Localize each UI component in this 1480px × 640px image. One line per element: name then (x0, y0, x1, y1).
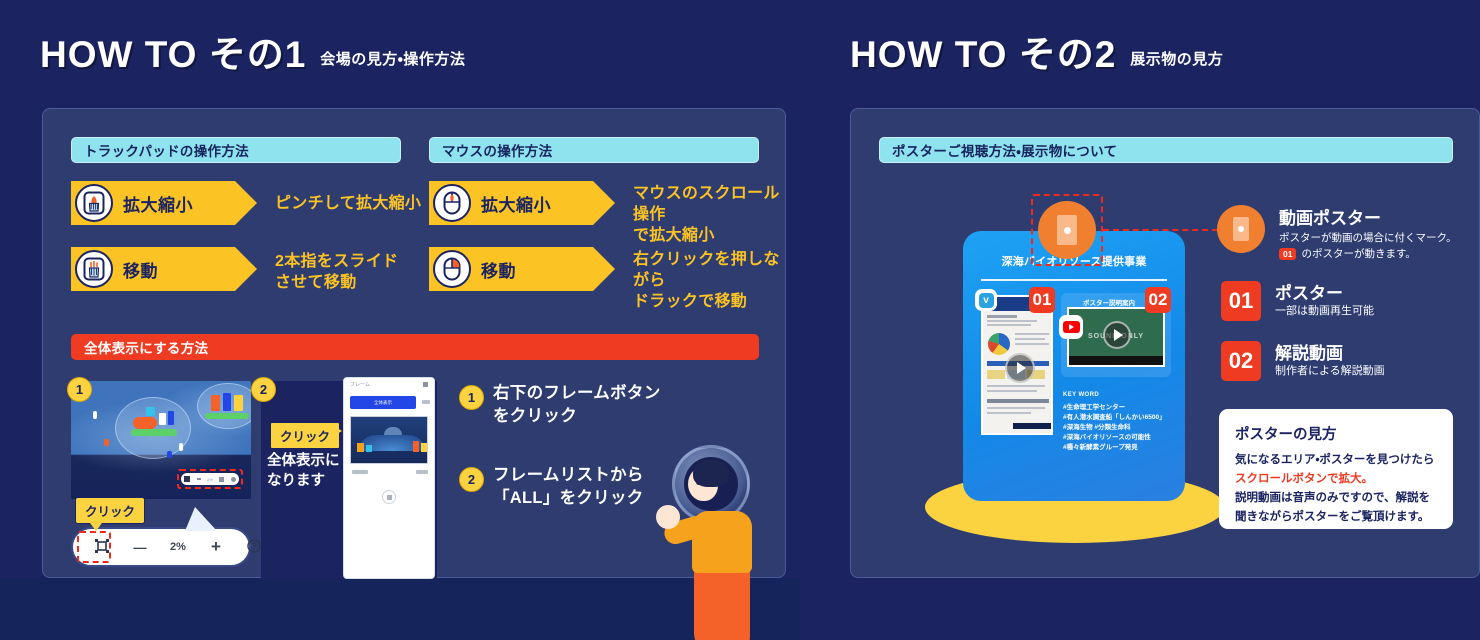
right-column: HOW TO その2 展示物の見方 ポスターご視聴方法・展示物について 深海バイ… (800, 0, 1480, 640)
youtube-icon (1059, 315, 1083, 339)
v-logo-icon: v (975, 289, 997, 311)
close-icon[interactable] (423, 382, 428, 387)
trackpad-zoom-desc: ピンチして拡大縮小 (275, 193, 421, 214)
mouse-move-desc: 右クリックを押しながら ドラックで移動 (633, 249, 785, 312)
step-text-2: フレームリストから 「ALL」をクリック (493, 464, 644, 510)
usage-line-3: 説明動画は音声のみですので、解説を (1235, 489, 1434, 508)
mouse-rightclick-icon (433, 250, 471, 288)
mouse-move-label: 移動 (481, 257, 516, 282)
legend-num-01: 01 (1221, 281, 1261, 321)
mouse-zoom-desc: マウスのスクロール操作 で拡大縮小 (633, 183, 785, 246)
zoom-out-button[interactable]: — (121, 540, 159, 555)
trackpad-move-chevron: 移動 (71, 247, 257, 291)
poster-usage-body: 気になるエリア・ポスターを見つけたら スクロールボタンで拡大。 説明動画は音声の… (1235, 451, 1434, 527)
legend-01-title: ポスター (1275, 279, 1343, 304)
right-title-sub: 展示物の見方 (1130, 48, 1223, 73)
legend-mark-desc-1: ポスターが動画の場合に付くマーク。 (1279, 231, 1457, 246)
legend-02-title: 解説動画 (1275, 339, 1343, 364)
play-icon-document (1005, 353, 1035, 383)
sound-poster-mark-legend (1217, 205, 1265, 253)
trackpad-slide-icon (75, 250, 113, 288)
poster-usage-card: ポスターの見方 気になるエリア・ポスターを見つけたら スクロールボタンで拡大。 … (1219, 409, 1453, 529)
step-badge-1: 1 (459, 385, 484, 410)
poster-section-heading: ポスターご視聴方法・展示物について (879, 137, 1453, 163)
frame-thumb-caption-right (416, 470, 428, 474)
more-icon[interactable] (382, 490, 396, 504)
click-tag-toolbar: クリック (75, 497, 145, 524)
frame-list-header: フレーム (344, 378, 434, 392)
trackpad-move-desc: 2本指をスライド させて移動 (275, 251, 398, 293)
left-title-sub: 会場の見方・操作方法 (320, 48, 465, 73)
mouse-zoom-chevron: 拡大縮小 (429, 181, 615, 225)
keyword-list: #生命理工学センター #有人潜水調査船「しんかい6500」 #深海生物 #分類生… (1063, 403, 1166, 453)
right-panel: ポスターご視聴方法・展示物について 深海バイオリソース提供事業 (850, 108, 1480, 578)
frame-list-title: フレーム (350, 381, 370, 388)
mark-connector-line (1103, 229, 1218, 231)
legend-mark-desc-2-row: 01 のポスターが動きます。 (1279, 246, 1416, 261)
poster-card-mock: 深海バイオリソース提供事業 (963, 231, 1185, 501)
trackpad-pinch-icon (75, 184, 113, 222)
arrow-caption: 全体表示に なります (267, 451, 340, 492)
poster-badge-01: 01 (1029, 287, 1055, 313)
trackpad-zoom-label: 拡大縮小 (123, 191, 193, 216)
usage-line-1: 気になるエリア・ポスターを見つけたら (1235, 451, 1434, 470)
legend-mark-title: 動画ポスター (1279, 204, 1381, 229)
video-caption: ポスター説明案内 (1083, 297, 1135, 307)
frame-button-highlight (77, 531, 111, 563)
frame-list-panel: フレーム 全体表示 (343, 377, 435, 579)
trackpad-move-label: 移動 (123, 257, 158, 282)
explainer-video-thumb[interactable]: SOUND ONLY (1067, 307, 1165, 367)
poster-rule (981, 279, 1167, 281)
frame-thumbnail[interactable] (350, 416, 428, 464)
right-title-main: HOW TO その2 (850, 36, 1116, 73)
keyword-title: KEY WORD (1063, 391, 1099, 400)
venue-scene-illustration: 2% (71, 381, 251, 499)
usage-line-4: 聞きながらポスターをご覧頂けます。 (1235, 508, 1434, 527)
step-badge-2: 2 (459, 467, 484, 492)
zoom-level-value: 2% (159, 541, 197, 553)
usage-line-2: スクロールボタンで拡大。 (1235, 470, 1434, 489)
trackpad-zoom-chevron: 拡大縮小 (71, 181, 257, 225)
legend-num-02: 02 (1221, 341, 1261, 381)
callout-tail (185, 507, 217, 531)
step-text-1: 右下のフレームボタン をクリック (493, 382, 661, 428)
scene-step-badge-2: 2 (251, 377, 276, 402)
left-title: HOW TO その1 会場の見方・操作方法 (40, 36, 465, 73)
legend-01-desc: 一部は動画再生可能 (1275, 304, 1374, 320)
scene-step-badge-1: 1 (67, 377, 92, 402)
left-column: HOW TO その1 会場の見方・操作方法 トラックパッドの操作方法 マウスの操… (0, 0, 800, 640)
fullscreen-heading: 全体表示にする方法 (71, 334, 759, 360)
poster-usage-title: ポスターの見方 (1235, 423, 1337, 444)
trackpad-heading: トラックパッドの操作方法 (71, 137, 401, 163)
frame-thumb-caption-left (352, 470, 368, 474)
legend-02-desc: 制作者による解説動画 (1275, 364, 1385, 380)
arrow-right-icon (330, 424, 342, 438)
right-title: HOW TO その2 展示物の見方 (850, 36, 1223, 73)
mouse-scroll-icon (433, 184, 471, 222)
frame-list-primary-button[interactable]: 全体表示 (350, 396, 416, 409)
scene-toolbar-highlight (177, 469, 243, 489)
poster-badge-02: 02 (1145, 287, 1171, 313)
sound-poster-mark-highlight (1031, 194, 1103, 266)
legend-mark-desc-2: のポスターが動きます。 (1301, 246, 1415, 261)
frame-list-meta (422, 400, 430, 404)
mouse-heading: マウスの操作方法 (429, 137, 759, 163)
howto-poster: HOW TO その1 会場の見方・操作方法 トラックパッドの操作方法 マウスの操… (0, 0, 1480, 640)
poster-document-thumb[interactable] (981, 295, 1053, 435)
left-title-main: HOW TO その1 (40, 36, 306, 73)
diver-character (672, 445, 792, 640)
mouse-zoom-label: 拡大縮小 (481, 191, 551, 216)
mouse-move-chevron: 移動 (429, 247, 615, 291)
zoom-in-button[interactable]: + (197, 537, 235, 557)
play-icon-video (1103, 321, 1131, 349)
legend-mark-inline-badge: 01 (1279, 248, 1296, 260)
